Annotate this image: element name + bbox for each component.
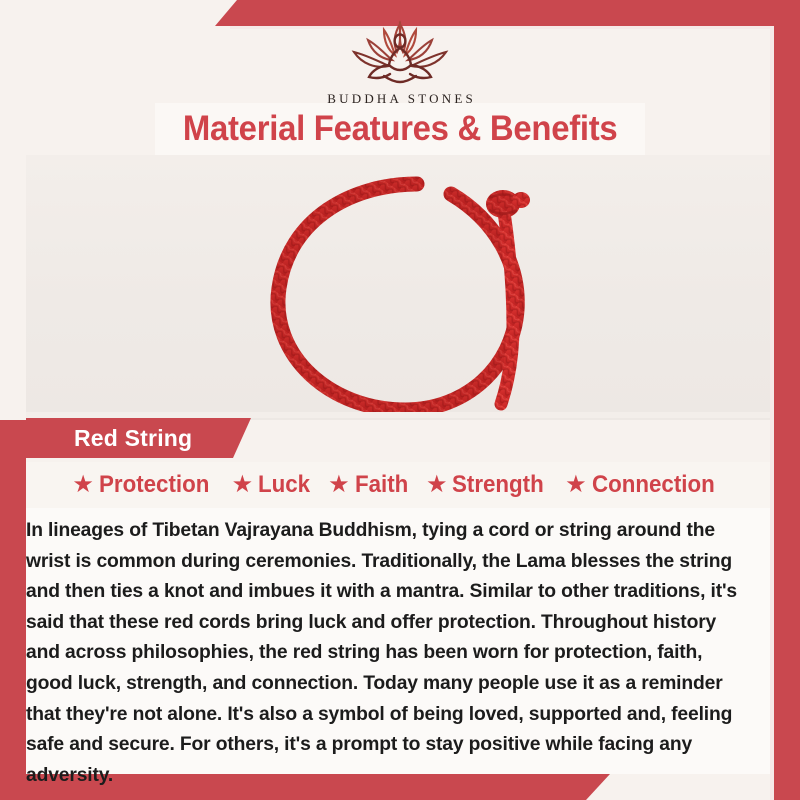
feature-label: Connection <box>592 471 715 499</box>
page-title: Material Features & Benefits <box>183 109 618 149</box>
feature-item-protection: ★ Protection <box>72 471 217 499</box>
poster-canvas: BUDDHA STONES Material Features & Benefi… <box>0 0 800 800</box>
feature-label: Faith <box>355 471 408 499</box>
star-icon: ★ <box>232 473 254 497</box>
feature-item-luck: ★ Luck <box>232 471 315 499</box>
feature-list: ★ Protection ★ Luck ★ Faith ★ Strength ★… <box>26 462 770 508</box>
description-panel: In lineages of Tibetan Vajrayana Buddhis… <box>26 508 770 774</box>
star-icon: ★ <box>565 473 587 497</box>
brand-header: BUDDHA STONES <box>0 16 800 107</box>
product-label-ribbon: Red String <box>26 418 251 458</box>
red-braided-string-bracelet-image <box>245 160 565 435</box>
feature-label: Strength <box>452 471 544 499</box>
lotus-meditation-icon <box>0 16 800 89</box>
feature-label: Luck <box>258 471 310 499</box>
title-banner: Material Features & Benefits <box>155 103 645 155</box>
feature-item-strength: ★ Strength <box>426 471 551 499</box>
feature-item-connection: ★ Connection <box>565 471 724 499</box>
left-red-border <box>0 420 26 800</box>
description-paragraph: In lineages of Tibetan Vajrayana Buddhis… <box>26 516 748 791</box>
product-label-text: Red String <box>74 425 192 452</box>
ribbon-backing-strip <box>26 412 770 418</box>
feature-label: Protection <box>99 471 209 499</box>
star-icon: ★ <box>72 473 94 497</box>
star-icon: ★ <box>426 473 448 497</box>
right-red-border <box>774 26 800 800</box>
feature-item-faith: ★ Faith <box>328 471 412 499</box>
star-icon: ★ <box>328 473 350 497</box>
right-border-inner-stripe <box>770 26 774 800</box>
